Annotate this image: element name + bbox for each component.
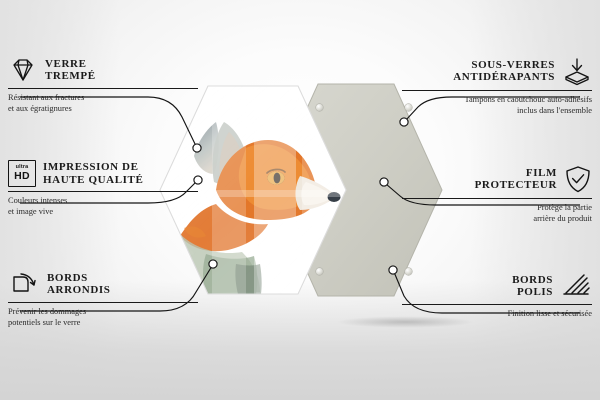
feature-head: FILM PROTECTEUR	[402, 164, 592, 194]
feature-sous-verres-antiderapants: SOUS-VERRES ANTIDÉRAPANTS Tampons en cao…	[402, 56, 592, 116]
feature-head: VERRE TREMPÉ	[8, 56, 198, 84]
infographic-canvas: VERRE TREMPÉ Résistant aux fractures et …	[0, 0, 600, 400]
feature-title: VERRE TREMPÉ	[45, 58, 96, 83]
feature-divider	[402, 304, 592, 305]
connector-dot-left-3	[209, 260, 217, 268]
feature-bords-arrondis: BORDS ARRONDIS Prévenir les dommages pot…	[8, 270, 198, 328]
connector-dot-right-2	[380, 178, 388, 186]
feature-divider	[402, 90, 592, 91]
connector-dot-left-1	[193, 144, 201, 152]
feature-description: Couleurs intenses et image vive	[8, 196, 198, 217]
feature-head: ultra HD IMPRESSION DE HAUTE QUALITÉ	[8, 160, 198, 187]
feature-head: BORDS ARRONDIS	[8, 270, 198, 298]
feature-title: IMPRESSION DE HAUTE QUALITÉ	[43, 161, 143, 186]
feature-divider	[8, 302, 198, 303]
connector-dot-right-3	[389, 266, 397, 274]
feature-title: FILM PROTECTEUR	[475, 167, 557, 192]
feature-divider	[402, 198, 592, 199]
feature-divider	[8, 191, 198, 192]
press-pad-icon	[562, 56, 592, 86]
feature-film-protecteur: FILM PROTECTEUR Protège la partie arrièr…	[402, 164, 592, 224]
feature-title: SOUS-VERRES ANTIDÉRAPANTS	[453, 59, 555, 84]
feature-title: BORDS ARRONDIS	[47, 272, 110, 297]
feature-divider	[8, 88, 198, 89]
feature-head: BORDS POLIS	[402, 272, 592, 300]
feature-title: BORDS POLIS	[512, 274, 553, 299]
feature-verre-trempe: VERRE TREMPÉ Résistant aux fractures et …	[8, 56, 198, 114]
feature-head: SOUS-VERRES ANTIDÉRAPANTS	[402, 56, 592, 86]
hatch-lines-icon	[560, 272, 592, 300]
connector-dot-right-1	[400, 118, 408, 126]
ultra-hd-icon: ultra HD	[8, 160, 36, 187]
feature-description: Résistant aux fractures et aux égratignu…	[8, 93, 198, 114]
shield-check-icon	[564, 164, 592, 194]
diamond-icon	[8, 56, 38, 84]
rounded-corner-icon	[8, 270, 40, 298]
feature-description: Tampons en caoutchouc auto-adhésifs incl…	[402, 95, 592, 116]
feature-description: Finition lisse et sécurisée	[402, 309, 592, 320]
feature-description: Protège la partie arrière du produit	[402, 203, 592, 224]
feature-impression-haute-qualite: ultra HD IMPRESSION DE HAUTE QUALITÉ Cou…	[8, 160, 198, 217]
feature-bords-polis: BORDS POLIS Finition lisse et sécurisée	[402, 272, 592, 320]
feature-description: Prévenir les dommages potentiels sur le …	[8, 307, 198, 328]
